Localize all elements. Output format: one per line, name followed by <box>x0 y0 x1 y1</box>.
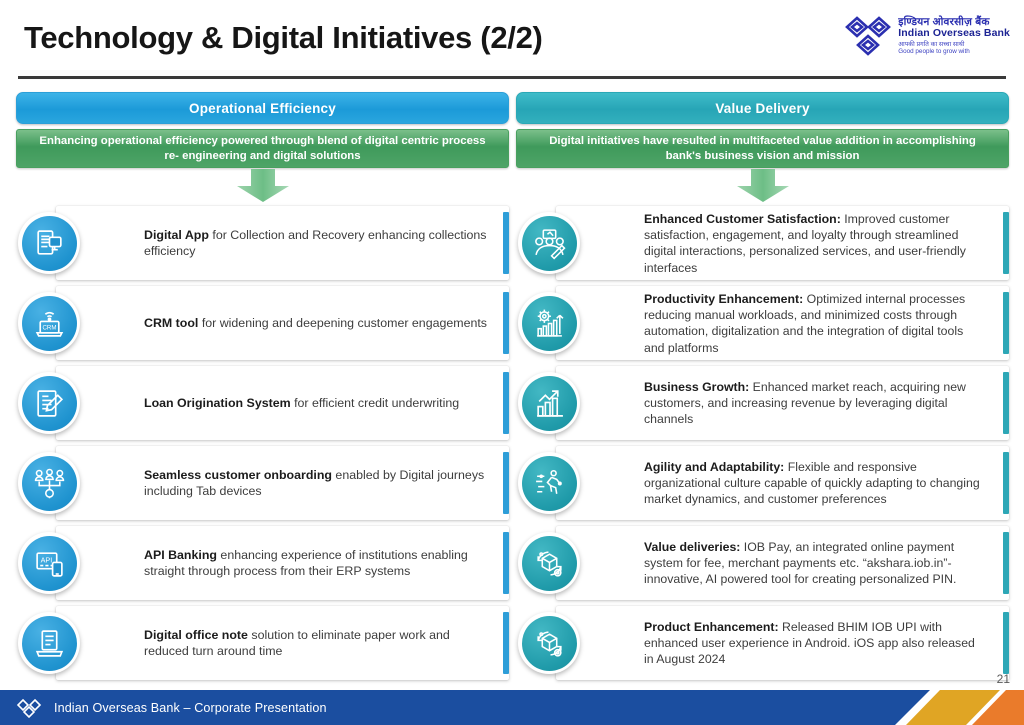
card-badge <box>518 532 580 594</box>
card-title: Productivity Enhancement: <box>644 292 803 306</box>
people-network-icon <box>33 467 66 500</box>
card-accent-bar <box>1003 292 1009 354</box>
card-title: Enhanced Customer Satisfaction: <box>644 212 841 226</box>
card-text: Agility and Adaptability: Flexible and r… <box>644 459 987 508</box>
card-badge <box>518 292 580 354</box>
card-desc: for efficient credit underwriting <box>291 396 460 410</box>
logo-name-english: Indian Overseas Bank <box>898 28 1010 39</box>
svg-text:API: API <box>40 555 52 564</box>
card-badge <box>518 452 580 514</box>
card-accent-bar <box>1003 212 1009 274</box>
list-item[interactable]: Digital App for Collection and Recovery … <box>16 206 509 280</box>
loan-document-pen-icon <box>33 387 66 420</box>
card-badge <box>18 452 80 514</box>
card-badge <box>518 612 580 674</box>
card-accent-bar <box>503 452 509 514</box>
card-badge <box>518 372 580 434</box>
card-title: Business Growth: <box>644 380 749 394</box>
card-accent-bar <box>503 532 509 594</box>
column-subheader-value-delivery: Digital initiatives have resulted in mul… <box>516 129 1009 168</box>
card-accent-bar <box>503 212 509 274</box>
list-item[interactable]: Digital office note solution to eliminat… <box>16 606 509 680</box>
crm-laptop-icon: CRM <box>33 307 66 340</box>
api-devices-icon: API <box>33 547 66 580</box>
card-desc: for widening and deepening customer enga… <box>198 316 487 330</box>
card-accent-bar <box>1003 372 1009 434</box>
list-item[interactable]: Product Enhancement: Released BHIM IOB U… <box>516 606 1009 680</box>
column-operational-efficiency: Operational Efficiency Enhancing operati… <box>16 92 509 686</box>
card-accent-bar <box>503 292 509 354</box>
svg-text:CRM: CRM <box>42 324 56 331</box>
list-item[interactable]: Loan Origination System for efficient cr… <box>16 366 509 440</box>
list-item[interactable]: Business Growth: Enhanced market reach, … <box>516 366 1009 440</box>
card-text: Loan Origination System for efficient cr… <box>144 395 459 411</box>
list-item[interactable]: Value deliveries: IOB Pay, an integrated… <box>516 526 1009 600</box>
card-body: Digital office note solution to eliminat… <box>56 606 509 680</box>
card-title: Digital office note <box>144 628 248 642</box>
card-body: CRM tool for widening and deepening cust… <box>56 286 509 360</box>
card-accent-bar <box>503 612 509 674</box>
footer-content: Indian Overseas Bank – Corporate Present… <box>16 690 327 725</box>
column-value-delivery: Value Delivery Digital initiatives have … <box>516 92 1009 686</box>
card-accent-bar <box>503 372 509 434</box>
cards-right: Enhanced Customer Satisfaction: Improved… <box>516 206 1009 680</box>
card-accent-bar <box>1003 452 1009 514</box>
card-body: Seamless customer onboarding enabled by … <box>56 446 509 520</box>
card-accent-bar <box>1003 532 1009 594</box>
down-arrow-right <box>516 168 1009 204</box>
title-divider <box>18 76 1006 79</box>
column-header-value-delivery: Value Delivery <box>516 92 1009 124</box>
card-title: API Banking <box>144 548 217 562</box>
footer: Indian Overseas Bank – Corporate Present… <box>0 690 1024 725</box>
card-title: Seamless customer onboarding <box>144 468 332 482</box>
card-body: Enhanced Customer Satisfaction: Improved… <box>556 206 1009 280</box>
productivity-gear-chart-icon <box>533 307 566 340</box>
page-number: 21 <box>997 672 1010 686</box>
list-item[interactable]: Agility and Adaptability: Flexible and r… <box>516 446 1009 520</box>
card-badge <box>18 612 80 674</box>
footer-label: Indian Overseas Bank – Corporate Present… <box>54 701 327 715</box>
card-text: Productivity Enhancement: Optimized inte… <box>644 291 987 356</box>
card-badge <box>18 372 80 434</box>
growth-chart-arrow-icon <box>533 387 566 420</box>
office-note-laptop-icon <box>33 627 66 660</box>
card-text: Enhanced Customer Satisfaction: Improved… <box>644 211 987 276</box>
list-item[interactable]: CRM tool for widening and deepening cust… <box>16 286 509 360</box>
card-title: Product Enhancement: <box>644 620 779 634</box>
column-header-operational-efficiency: Operational Efficiency <box>16 92 509 124</box>
card-title: Loan Origination System <box>144 396 291 410</box>
card-body: Productivity Enhancement: Optimized inte… <box>556 286 1009 360</box>
card-title: Digital App <box>144 228 209 242</box>
card-text: Value deliveries: IOB Pay, an integrated… <box>644 539 987 588</box>
bank-logo: इण्डियन ओवरसीज़ बैंक Indian Overseas Ban… <box>845 14 1010 58</box>
card-body: Product Enhancement: Released BHIM IOB U… <box>556 606 1009 680</box>
card-badge <box>18 212 80 274</box>
card-text: CRM tool for widening and deepening cust… <box>144 315 487 331</box>
list-item[interactable]: Enhanced Customer Satisfaction: Improved… <box>516 206 1009 280</box>
card-badge <box>518 212 580 274</box>
down-arrow-left <box>16 168 509 204</box>
card-body: API Banking enhancing experience of inst… <box>56 526 509 600</box>
card-badge: CRM <box>18 292 80 354</box>
card-text: Product Enhancement: Released BHIM IOB U… <box>644 619 987 668</box>
arrow-down-icon <box>235 169 291 203</box>
cards-left: Digital App for Collection and Recovery … <box>16 206 509 680</box>
logo-tagline-english: Good people to grow with <box>898 49 1010 56</box>
card-body: Digital App for Collection and Recovery … <box>56 206 509 280</box>
card-badge: API <box>18 532 80 594</box>
customer-satisfaction-icon <box>533 227 566 260</box>
card-text: Seamless customer onboarding enabled by … <box>144 467 487 500</box>
package-delivery-gear-icon <box>533 547 566 580</box>
card-title: Value deliveries: <box>644 540 740 554</box>
document-mobile-icon <box>33 227 66 260</box>
card-accent-bar <box>1003 612 1009 674</box>
package-delivery-gear-icon <box>533 627 566 660</box>
page-title: Technology & Digital Initiatives (2/2) <box>24 20 543 56</box>
card-text: Digital office note solution to eliminat… <box>144 627 487 660</box>
card-title: Agility and Adaptability: <box>644 460 784 474</box>
arrow-down-icon <box>735 169 791 203</box>
list-item[interactable]: API Banking enhancing experience of inst… <box>16 526 509 600</box>
slide-root: Technology & Digital Initiatives (2/2) इ… <box>0 0 1024 725</box>
column-subheader-operational-efficiency: Enhancing operational efficiency powered… <box>16 129 509 168</box>
card-title: CRM tool <box>144 316 198 330</box>
card-body: Value deliveries: IOB Pay, an integrated… <box>556 526 1009 600</box>
list-item[interactable]: Seamless customer onboarding enabled by … <box>16 446 509 520</box>
iob-diamond-logo-icon <box>845 14 891 58</box>
card-text: API Banking enhancing experience of inst… <box>144 547 487 580</box>
card-text: Digital App for Collection and Recovery … <box>144 227 487 260</box>
card-body: Agility and Adaptability: Flexible and r… <box>556 446 1009 520</box>
list-item[interactable]: Productivity Enhancement: Optimized inte… <box>516 286 1009 360</box>
agility-runner-icon <box>533 467 566 500</box>
card-body: Business Growth: Enhanced market reach, … <box>556 366 1009 440</box>
card-body: Loan Origination System for efficient cr… <box>56 366 509 440</box>
card-text: Business Growth: Enhanced market reach, … <box>644 379 987 428</box>
iob-footer-logo-icon <box>16 698 42 718</box>
